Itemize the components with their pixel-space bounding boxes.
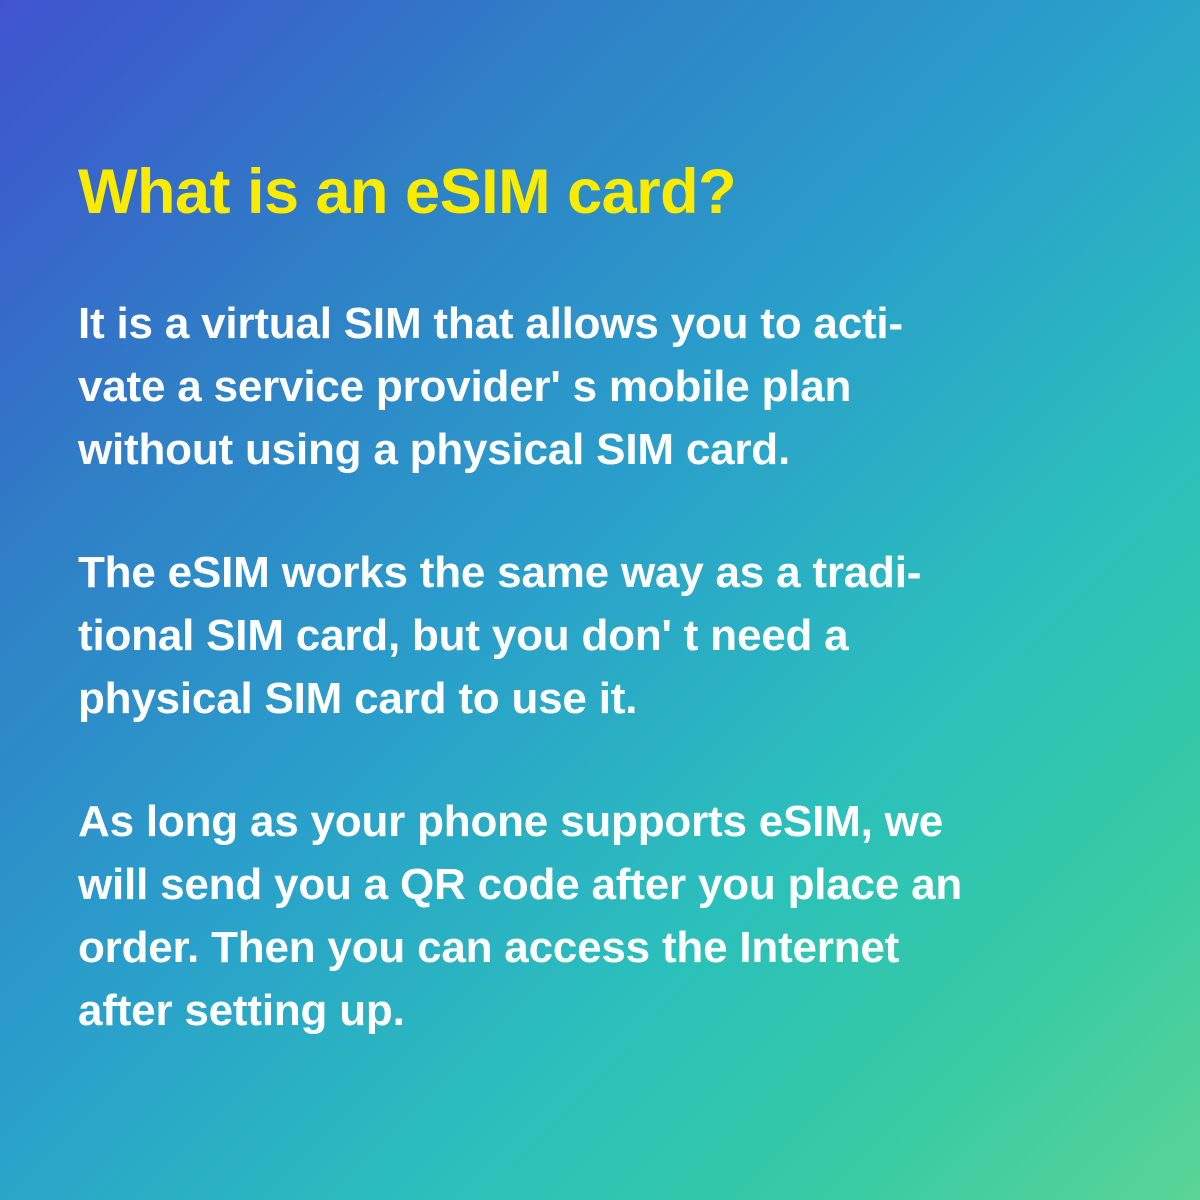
paragraph-definition: It is a virtual SIM that allows you to a… [78, 292, 1078, 481]
paragraph-line: without using a physical SIM card. [78, 418, 1078, 481]
paragraph-line: tional SIM card, but you don' t need a [78, 604, 1078, 667]
esim-info-card: What is an eSIM card? It is a virtual SI… [0, 0, 1200, 1200]
paragraph-line: will send you a QR code after you place … [78, 853, 1078, 916]
paragraph-line: after setting up. [78, 979, 1078, 1042]
paragraph-line: As long as your phone supports eSIM, we [78, 790, 1078, 853]
paragraph-line: vate a service provider' s mobile plan [78, 355, 1078, 418]
paragraph-line: physical SIM card to use it. [78, 667, 1078, 730]
paragraph-how-it-works: The eSIM works the same way as a tradi- … [78, 541, 1078, 730]
paragraph-line: It is a virtual SIM that allows you to a… [78, 292, 1078, 355]
body-text-block: It is a virtual SIM that allows you to a… [78, 292, 1078, 1042]
paragraph-activation: As long as your phone supports eSIM, we … [78, 790, 1078, 1042]
page-title: What is an eSIM card? [78, 157, 736, 227]
paragraph-line: The eSIM works the same way as a tradi- [78, 541, 1078, 604]
paragraph-line: order. Then you can access the Internet [78, 916, 1078, 979]
